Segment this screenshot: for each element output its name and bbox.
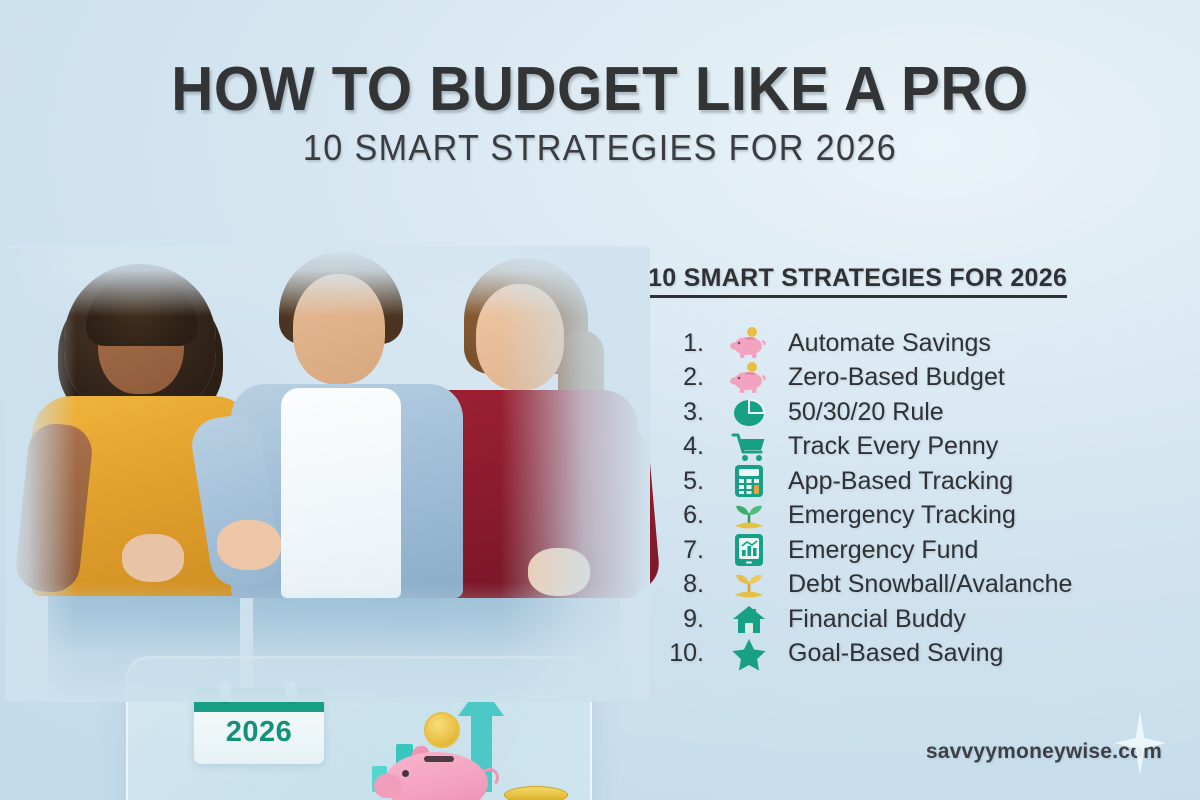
list-item-number: 8.	[648, 570, 720, 599]
calendar-2026-icon: 2026	[194, 688, 324, 764]
list-item[interactable]: 8. Debt Snowball/Avalanche	[648, 568, 1186, 603]
pie-chart-icon	[720, 396, 778, 428]
list-item-label: Goal-Based Saving	[778, 639, 1003, 668]
list-item-number: 1.	[648, 329, 720, 358]
tablet-chart-icon	[720, 533, 778, 567]
hand	[528, 548, 590, 596]
strategies-panel: 10 SMART STRATEGIES FOR 2026 1. Automate…	[648, 264, 1186, 671]
calendar-ring-right	[286, 681, 297, 702]
gold-sprout-icon	[720, 569, 778, 601]
list-item[interactable]: 7. Emergency Fund	[648, 533, 1186, 568]
list-item-label: Emergency Tracking	[778, 501, 1016, 530]
hand-pointing	[217, 520, 281, 570]
infographic-canvas: HOW TO BUDGET LIKE A PRO 10 SMART STRATE…	[0, 0, 1200, 800]
list-item-label: Zero-Based Budget	[778, 363, 1005, 392]
calendar-header-bar	[194, 688, 324, 712]
list-item[interactable]: 9. Financial Buddy	[648, 602, 1186, 637]
page-title: HOW TO BUDGET LIKE A PRO	[36, 58, 1164, 121]
list-item[interactable]: 6. Emergency Tracking	[648, 499, 1186, 534]
list-item-label: App-Based Tracking	[778, 467, 1013, 496]
list-item-number: 10.	[648, 639, 720, 668]
list-item-label: Automate Savings	[778, 329, 991, 358]
page-subtitle: 10 SMART STRATEGIES FOR 2026	[30, 127, 1170, 169]
piggy-bank-coin-icon	[720, 362, 778, 394]
list-item[interactable]: 3. 50/30/20 Rule	[648, 395, 1186, 430]
strategies-list: 1. Automate Savings2. Zero	[648, 326, 1186, 671]
header: HOW TO BUDGET LIKE A PRO 10 SMART STRATE…	[0, 58, 1200, 169]
list-item[interactable]: 5. App-Based Tracking	[648, 464, 1186, 499]
calendar-year-label: 2026	[194, 716, 324, 749]
list-item[interactable]: 2. Zero-Based Budget	[648, 361, 1186, 396]
green-sprout-icon	[720, 500, 778, 532]
list-item-label: Financial Buddy	[778, 605, 966, 634]
piggy-coin-slot	[424, 756, 454, 762]
gold-coin-icon	[424, 712, 460, 748]
coin	[504, 786, 568, 800]
list-item[interactable]: 1. Automate Savings	[648, 326, 1186, 361]
glass-graphics-card: 2026	[126, 656, 592, 800]
strategies-heading: 10 SMART STRATEGIES FOR 2026	[648, 264, 1067, 298]
list-item-label: Track Every Penny	[778, 432, 998, 461]
head	[476, 284, 564, 390]
list-item-number: 5.	[648, 467, 720, 496]
person-man-denim	[223, 248, 473, 700]
four-point-sparkle-icon	[1114, 710, 1166, 776]
piggy-bank-coin-icon	[720, 327, 778, 359]
calendar-ring-left	[220, 681, 231, 702]
list-item-label: 50/30/20 Rule	[778, 398, 944, 427]
watermark: savvyymoneywise.com	[926, 740, 1162, 764]
list-item-number: 6.	[648, 501, 720, 530]
list-item[interactable]: 10. Goal-Based Saving	[648, 637, 1186, 672]
list-item[interactable]: 4. Track Every Penny	[648, 430, 1186, 465]
list-item-label: Emergency Fund	[778, 536, 978, 565]
head	[293, 274, 385, 384]
calculator-icon	[720, 464, 778, 498]
list-item-number: 3.	[648, 398, 720, 427]
piggy-eye	[402, 770, 409, 777]
white-tshirt	[281, 388, 401, 598]
list-item-number: 4.	[648, 432, 720, 461]
list-item-label: Debt Snowball/Avalanche	[778, 570, 1072, 599]
hero-photo: 2026	[8, 248, 648, 700]
piggy-snout	[374, 774, 402, 798]
shopping-cart-icon	[720, 431, 778, 463]
hand-pointing	[122, 534, 184, 582]
star-icon	[720, 637, 778, 671]
house-icon	[720, 603, 778, 635]
gold-coin-stacks	[428, 778, 578, 800]
list-item-number: 7.	[648, 536, 720, 565]
list-item-number: 2.	[648, 363, 720, 392]
list-item-number: 9.	[648, 605, 720, 634]
